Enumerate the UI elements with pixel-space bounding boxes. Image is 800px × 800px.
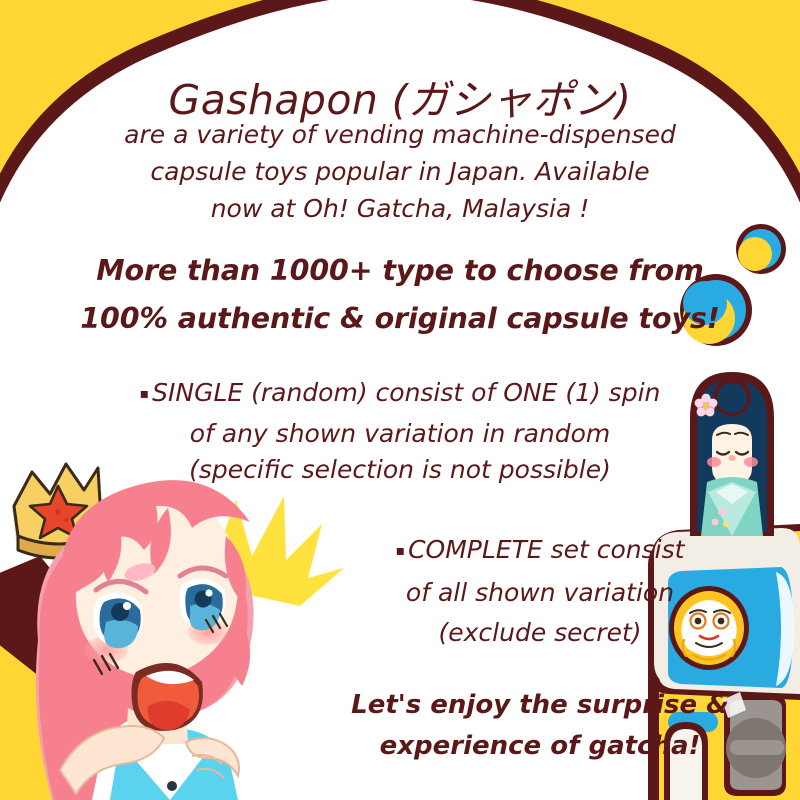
capsule-small bbox=[736, 224, 786, 274]
kokeshi-doll-illustration bbox=[690, 372, 774, 536]
gashapon-promo-poster: Gashapon (ガシャポン) are a variety of vendin… bbox=[0, 0, 800, 800]
gashapon-machine-illustration bbox=[640, 520, 800, 800]
crank-slot bbox=[730, 740, 784, 755]
daruma-capsule-icon bbox=[669, 586, 749, 670]
capsule-large bbox=[680, 274, 752, 346]
poster-artwork bbox=[0, 0, 800, 800]
